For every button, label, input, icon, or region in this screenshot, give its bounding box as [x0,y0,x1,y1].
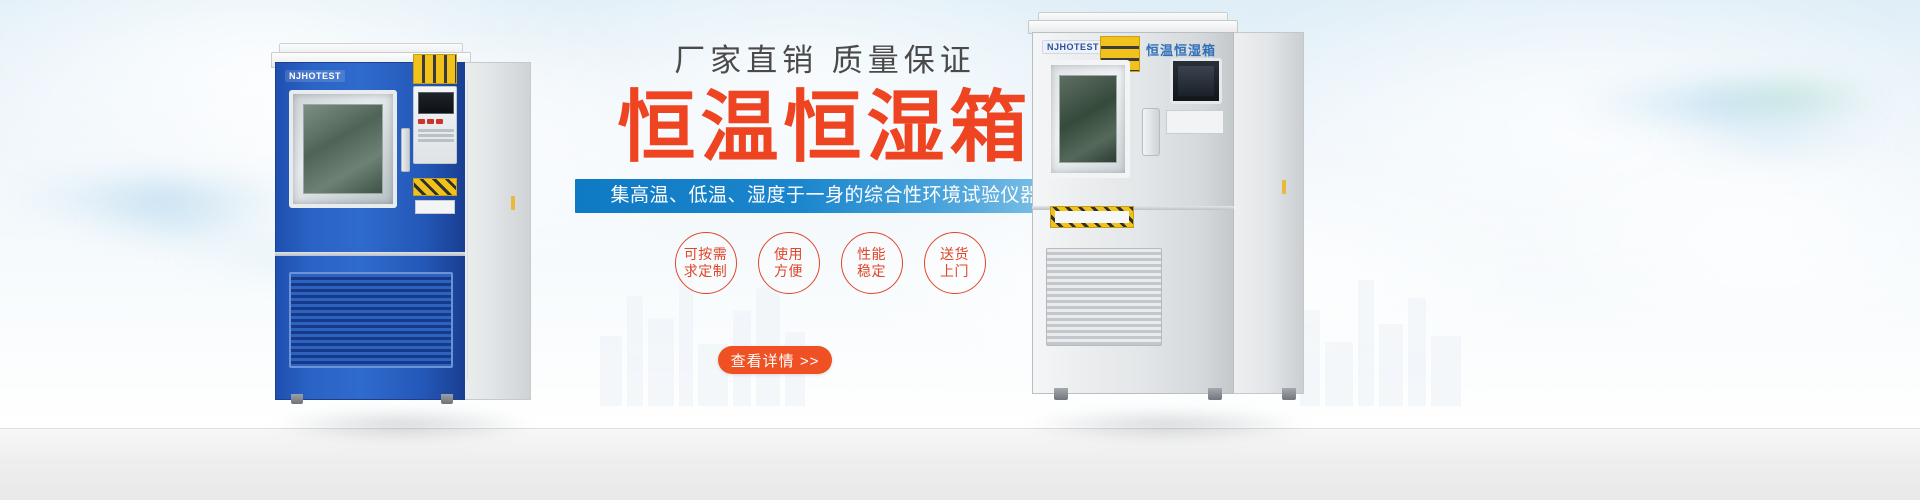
left-chamber-door-handle [401,128,410,172]
left-chamber-warning-strip [413,178,457,196]
view-details-button[interactable]: 查看详情 >> [718,346,832,374]
right-chamber-vent-grille [1046,248,1162,346]
feature-badge-line1: 性能 [857,246,886,263]
feature-badge-stable[interactable]: 性能 稳定 [841,232,903,294]
right-chamber-caution-label [1050,206,1134,228]
left-chamber-hazard-sticker [413,54,457,84]
left-chamber-indicator-leds [418,119,443,124]
banner-subtitle: 集高温、低温、湿度于一身的综合性环境试验仪器 [575,179,1075,213]
feature-badge-line1: 使用 [774,246,803,263]
right-chamber-foot [1054,388,1068,400]
right-chamber-foot [1208,388,1222,400]
left-chamber-side-marker [511,196,515,210]
right-chamber-door [1046,60,1130,178]
right-chamber-side-panel [1232,32,1304,394]
promo-banner: NJHOTEST 厂家直销 质量保证 恒温恒湿箱 集高温、低温、湿度于一身的综合… [0,0,1920,500]
feature-badge-custom[interactable]: 可按需 求定制 [675,232,737,294]
left-chamber-foot [441,394,453,404]
right-chamber-screen-surface [1178,66,1214,96]
floor-band [0,428,1920,500]
cloud-wash-5 [1500,120,1920,360]
banner-kicker: 厂家直销 质量保证 [575,44,1075,78]
mist-stroke-right-2 [1650,130,1900,148]
left-chamber-side-panel [461,62,531,400]
right-chamber-spec-plate [1166,110,1224,134]
mist-stroke-right-1 [1560,90,1890,118]
left-chamber-door-glass [303,104,383,194]
product-image-right-chamber: NJHOTEST 恒温恒湿箱 [1020,10,1305,400]
feature-badge-line1: 可按需 [684,246,728,263]
right-chamber-brand-logo: NJHOTEST [1042,40,1104,54]
left-chamber-display-screen [418,92,454,114]
left-chamber-brand-logo: NJHOTEST [285,70,345,82]
shadow-right-product [1022,408,1312,442]
right-chamber-display-screen [1170,58,1222,104]
right-chamber-foot [1282,388,1296,400]
product-image-left-chamber: NJHOTEST [265,28,530,400]
feature-badge-easy-use[interactable]: 使用 方便 [758,232,820,294]
left-chamber-spec-label [415,200,455,214]
feature-badge-line1: 送货 [940,246,969,263]
left-chamber-button-rows [418,129,454,144]
left-chamber-foot [291,394,303,404]
mist-stroke-green [1690,86,1890,108]
left-chamber-door [289,90,397,208]
left-chamber-side-seam [467,80,468,380]
feature-badge-line2: 方便 [774,263,803,280]
right-chamber-brand-text: 恒温恒湿箱 [1146,40,1216,59]
right-chamber-caution-inner [1055,211,1129,223]
left-chamber-vent-grille [289,272,453,368]
feature-badge-line2: 稳定 [857,263,886,280]
shadow-left-product [268,408,538,442]
right-chamber-side-marker [1282,180,1286,194]
skyline-silhouette-right [1300,280,1461,406]
banner-headline: 恒温恒湿箱 [575,86,1075,169]
feature-badge-line2: 上门 [940,263,969,280]
feature-badge-delivery[interactable]: 送货 上门 [924,232,986,294]
right-chamber-door-handle [1142,108,1160,156]
left-chamber-control-panel [413,86,457,164]
left-chamber-body-divider [275,252,465,256]
banner-copy-block: 厂家直销 质量保证 恒温恒湿箱 集高温、低温、湿度于一身的综合性环境试验仪器 [575,44,1075,213]
feature-badge-line2: 求定制 [684,263,728,280]
mist-stroke-left-2 [70,215,290,233]
right-chamber-door-glass [1059,75,1117,163]
feature-badge-list: 可按需 求定制 使用 方便 性能 稳定 送货 上门 [600,232,1060,294]
